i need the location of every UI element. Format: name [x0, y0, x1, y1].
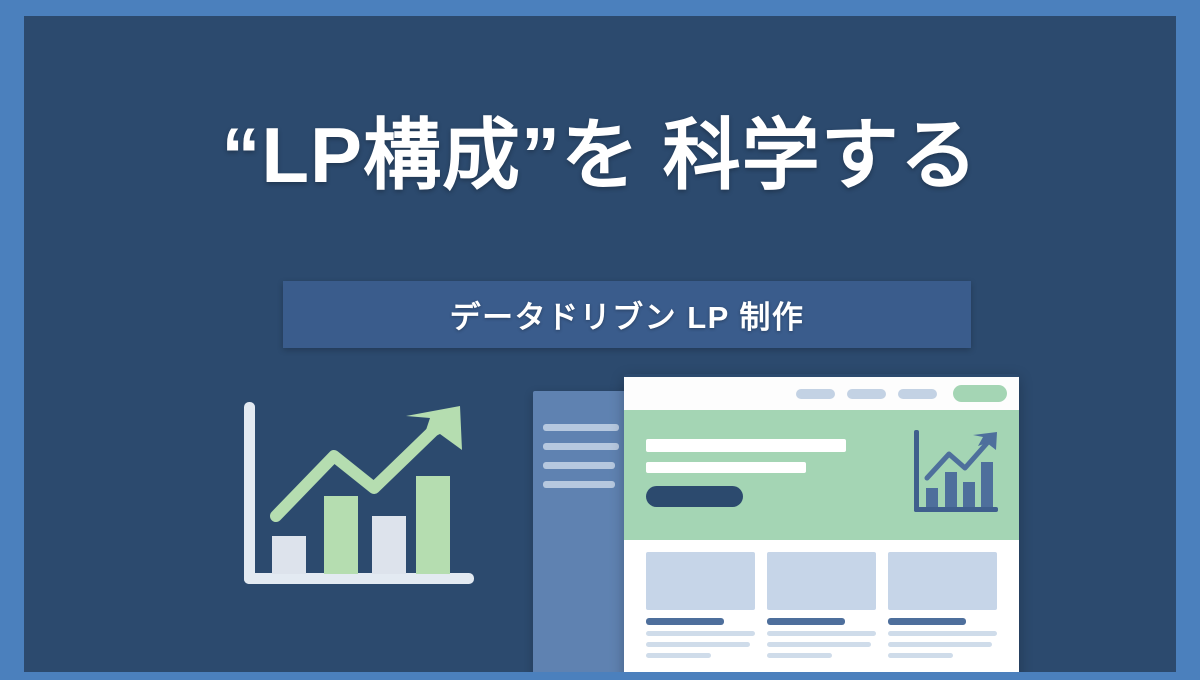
bar-1	[272, 536, 306, 574]
slide-frame: “LP構成”を 科学する データドリブン LP 制作	[0, 0, 1200, 680]
background-card-line	[543, 462, 615, 469]
card-body-line	[767, 631, 876, 636]
hero-bar-2	[945, 472, 957, 507]
hero-cta-button[interactable]	[646, 486, 743, 507]
subtitle-badge-label: データドリブン LP 制作	[450, 292, 805, 337]
card-body-line	[888, 631, 997, 636]
background-card-line	[543, 424, 619, 431]
bar-4	[416, 476, 450, 574]
mockup-card-row	[624, 552, 1019, 658]
mockup-card[interactable]	[888, 552, 997, 658]
hero-bar-1	[926, 488, 938, 507]
slide-stage: “LP構成”を 科学する データドリブン LP 制作	[24, 16, 1176, 672]
page-title: “LP構成”を 科学する	[24, 112, 1176, 199]
nav-link-2[interactable]	[847, 389, 886, 399]
mockup-navbar	[624, 377, 1019, 410]
card-image-placeholder	[646, 552, 755, 610]
hero-trend-line	[927, 442, 988, 478]
browser-window	[624, 374, 1019, 672]
card-image-placeholder	[767, 552, 876, 610]
card-title-bar	[646, 618, 724, 625]
hero-bar-chart-icon	[908, 426, 1003, 526]
hero-bar-3	[963, 482, 975, 507]
bar-3	[372, 516, 406, 574]
nav-link-1[interactable]	[796, 389, 835, 399]
card-body-line	[646, 642, 750, 647]
landing-page-mockup	[519, 364, 1019, 672]
bar-chart-illustration	[224, 388, 494, 608]
card-body-line	[767, 642, 871, 647]
hero-heading-line-1	[646, 439, 846, 452]
background-card-line	[543, 443, 619, 450]
mockup-card[interactable]	[646, 552, 755, 658]
hero-heading-line-2	[646, 462, 806, 473]
card-body-line	[646, 631, 755, 636]
card-body-line	[767, 653, 832, 658]
hero-bar-4	[981, 462, 993, 507]
background-card-line	[543, 481, 615, 488]
nav-cta-button[interactable]	[953, 385, 1007, 402]
card-title-bar	[767, 618, 845, 625]
card-image-placeholder	[888, 552, 997, 610]
subtitle-badge: データドリブン LP 制作	[283, 281, 971, 348]
card-body-line	[888, 642, 992, 647]
nav-link-3[interactable]	[898, 389, 937, 399]
bar-2	[324, 496, 358, 574]
mockup-card[interactable]	[767, 552, 876, 658]
card-body-line	[888, 653, 953, 658]
mockup-hero-section	[624, 410, 1019, 540]
card-title-bar	[888, 618, 966, 625]
card-body-line	[646, 653, 711, 658]
